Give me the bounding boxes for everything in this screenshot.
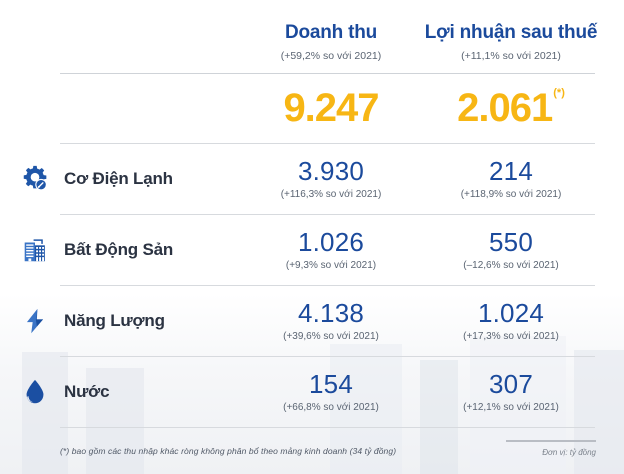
segment-profit-cell: 307 (+12,1% so với 2021) [416,370,606,414]
totals-revenue-value: 9.247 [283,86,378,130]
header-revenue-title: Doanh thu [246,22,416,44]
table-row: Bất Động Sản 1.026 (+9,3% so với 2021) 5… [0,215,624,285]
segment-label-cell: Cơ Điện Lạnh [0,159,246,199]
segment-profit-cell: 214 (+118,9% so với 2021) [416,157,606,201]
header-divider [60,73,595,74]
segment-profit-cell: 550 (–12,6% so với 2021) [416,228,606,272]
segment-revenue-cell: 1.026 (+9,3% so với 2021) [246,228,416,272]
segment-profit-sub: (+17,3% so với 2021) [416,331,606,343]
header-column-revenue: Doanh thu (+59,2% so với 2021) [246,22,416,63]
segment-revenue-value: 4.138 [246,299,416,328]
gear-wrench-icon [14,159,56,199]
segment-revenue-cell: 4.138 (+39,6% so với 2021) [246,299,416,343]
table-row: Nước 154 (+66,8% so với 2021) 307 (+12,1… [0,357,624,427]
segment-revenue-value: 1.026 [246,228,416,257]
segment-profit-value: 214 [416,157,606,186]
footnote-text: (*) bao gồm các thu nhập khác ròng không… [60,446,396,456]
segment-name: Cơ Điện Lạnh [64,169,173,189]
header-revenue-sub: (+59,2% so với 2021) [246,50,416,63]
lightning-bolt-icon [14,301,56,341]
segment-revenue-cell: 154 (+66,8% so với 2021) [246,370,416,414]
unit-note-rule [506,440,596,442]
segment-revenue-value: 154 [246,370,416,399]
water-drop-icon [14,372,56,412]
segment-profit-sub: (+118,9% so với 2021) [416,189,606,201]
segment-profit-sub: (–12,6% so với 2021) [416,260,606,272]
segment-name: Năng Lượng [64,311,165,331]
totals-revenue-cell: 9.247 [246,86,416,130]
header-profit-title: Lợi nhuận sau thuế [416,22,606,44]
table-sheet: Doanh thu (+59,2% so với 2021) Lợi nhuận… [0,0,624,474]
segment-revenue-sub: (+9,3% so với 2021) [246,260,416,272]
totals-profit-wrap: 2.061 (*) [457,86,565,130]
header-column-profit: Lợi nhuận sau thuế (+11,1% so với 2021) [416,22,606,63]
segment-name: Nước [64,382,109,402]
totals-row: 9.247 2.061 (*) [0,86,624,130]
buildings-icon [14,230,56,270]
segment-revenue-sub: (+39,6% so với 2021) [246,331,416,343]
segment-revenue-cell: 3.930 (+116,3% so với 2021) [246,157,416,201]
segment-profit-sub: (+12,1% so với 2021) [416,402,606,414]
segment-revenue-sub: (+116,3% so với 2021) [246,189,416,201]
segment-label-cell: Bất Động Sản [0,230,246,270]
segment-label-cell: Nước [0,372,246,412]
unit-note: Đơn vị: tỷ đồng [506,448,596,457]
footer-divider [60,427,595,428]
header-profit-sub: (+11,1% so với 2021) [416,50,606,63]
totals-profit-value: 2.061 [457,86,552,130]
segment-performance-infographic: Doanh thu (+59,2% so với 2021) Lợi nhuận… [0,0,624,474]
segment-profit-value: 307 [416,370,606,399]
segment-name: Bất Động Sản [64,240,173,260]
segment-profit-cell: 1.024 (+17,3% so với 2021) [416,299,606,343]
segment-revenue-value: 3.930 [246,157,416,186]
table-row: Năng Lượng 4.138 (+39,6% so với 2021) 1.… [0,286,624,356]
segment-profit-value: 550 [416,228,606,257]
footnote-marker: (*) [553,88,565,99]
segment-revenue-sub: (+66,8% so với 2021) [246,402,416,414]
table-header: Doanh thu (+59,2% so với 2021) Lợi nhuận… [0,22,624,63]
segment-profit-value: 1.024 [416,299,606,328]
segment-label-cell: Năng Lượng [0,301,246,341]
table-row: Cơ Điện Lạnh 3.930 (+116,3% so với 2021)… [0,144,624,214]
totals-profit-cell: 2.061 (*) [416,86,606,130]
